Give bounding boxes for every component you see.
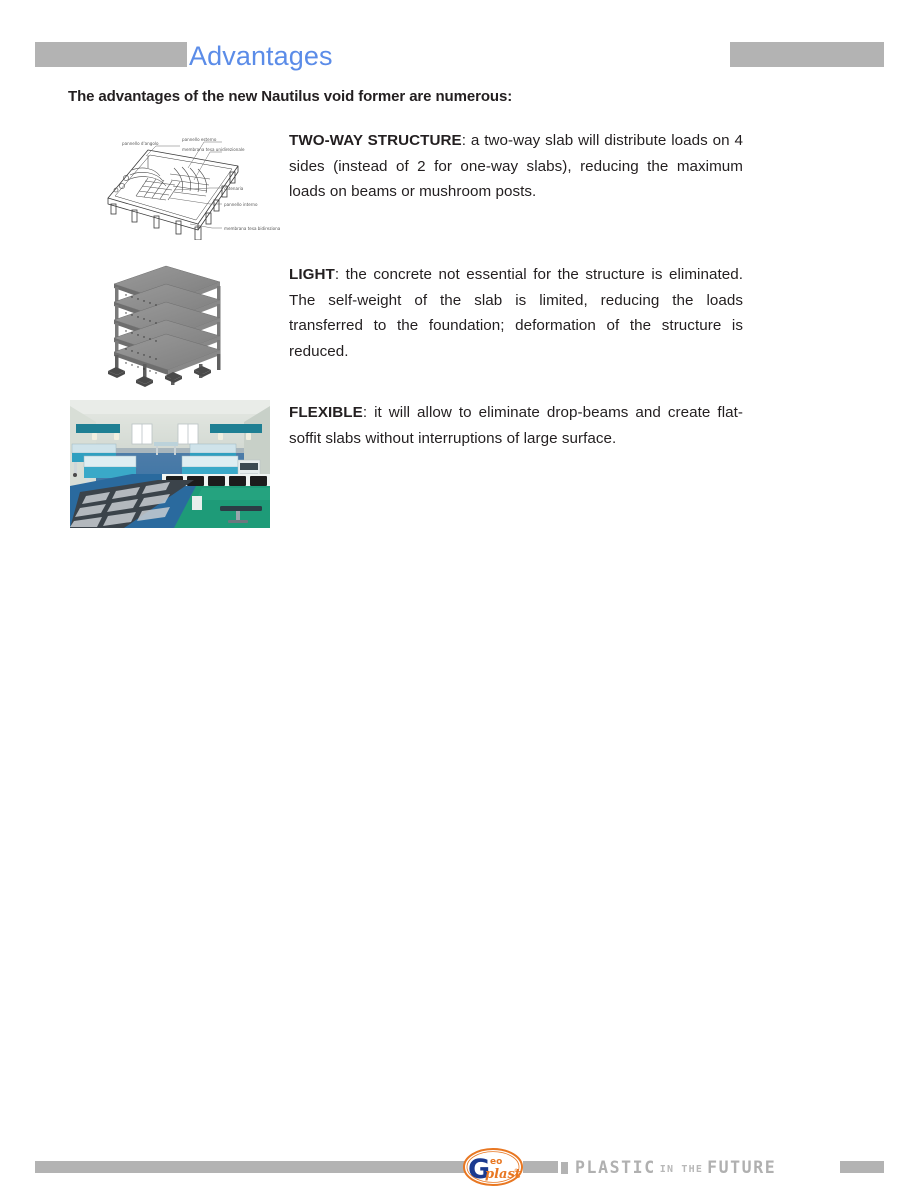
slide-header: Advantages <box>0 0 919 80</box>
figure-multi-storey-frame <box>70 254 270 394</box>
header-accent-block-right <box>730 42 884 67</box>
svg-text:pannello esterno: pannello esterno <box>182 137 217 142</box>
advantage-text-two-way-structure: TWO-WAY STRUCTURE: a two-way slab will d… <box>289 128 743 205</box>
advantage-text-light: LIGHT: the concrete not essential for th… <box>289 262 743 364</box>
footer-tagline-part-1: PLASTIC <box>575 1158 656 1177</box>
footer-bar-left <box>35 1161 495 1173</box>
figure-two-way-slab-diagram: pannello d'angolo pannello esterno membr… <box>70 128 280 245</box>
svg-text:eo: eo <box>490 1157 502 1167</box>
advantage-body-light: the concrete not essential for the struc… <box>289 266 743 360</box>
svg-text:pannello interno: pannello interno <box>224 202 258 207</box>
figure-hospital-ward <box>70 400 270 533</box>
two-way-slab-diagram-icon: pannello d'angolo pannello esterno membr… <box>70 128 280 240</box>
footer-bar-middle <box>523 1161 558 1173</box>
advantage-separator: : <box>462 132 471 149</box>
advantage-heading-two-way-structure: TWO-WAY STRUCTURE <box>289 132 462 149</box>
svg-text:membrana tesa unidirezionale: membrana tesa unidirezionale <box>182 147 245 152</box>
footer-tagline-part-3: FUTURE <box>707 1158 776 1177</box>
svg-text:catenaria: catenaria <box>224 186 244 191</box>
header-accent-block-left <box>35 42 187 67</box>
advantage-heading-light: LIGHT <box>289 266 335 283</box>
hospital-ward-render-icon <box>70 400 270 528</box>
svg-text:membrana tesa bidirezionale: membrana tesa bidirezionale <box>224 226 280 231</box>
advantage-heading-flexible: FLEXIBLE <box>289 404 363 421</box>
slide-footer: G eo plast ® PLASTIC IN THE FUTURE <box>0 578 919 623</box>
geoplast-logo-icon: G eo plast ® <box>462 1147 524 1187</box>
multi-storey-frame-icon <box>70 254 270 389</box>
subtitle: The advantages of the new Nautilus void … <box>68 88 512 105</box>
footer-tagline-tick <box>561 1162 568 1174</box>
svg-text:pannello d'angolo: pannello d'angolo <box>122 141 159 146</box>
footer-tagline: PLASTIC IN THE FUTURE <box>561 1158 776 1176</box>
advantage-separator: : <box>335 266 346 283</box>
svg-text:®: ® <box>514 1167 519 1174</box>
page-title: Advantages <box>189 41 333 71</box>
footer-tagline-part-2: IN THE <box>656 1164 707 1175</box>
footer-bar-right <box>840 1161 884 1173</box>
advantage-separator: : <box>363 404 374 421</box>
advantage-text-flexible: FLEXIBLE: it will allow to eliminate dro… <box>289 400 743 451</box>
